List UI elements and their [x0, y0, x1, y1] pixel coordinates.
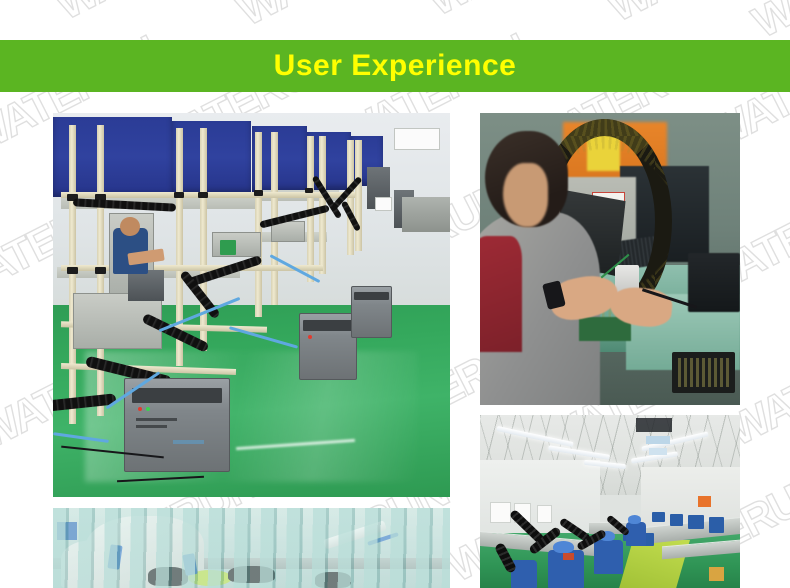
header-banner: User Experience [0, 40, 790, 92]
photo-workshop-row[interactable] [53, 113, 450, 497]
fume-extractor-unit [299, 313, 357, 380]
photo-production-line-scene [480, 415, 740, 588]
photo-workshop-row-scene [53, 113, 450, 497]
page-title: User Experience [274, 51, 517, 81]
photo-production-line[interactable] [480, 415, 740, 588]
photo-cleanroom-strips[interactable] [53, 508, 450, 588]
fume-extractor-unit [351, 286, 393, 338]
fume-extractor-unit [124, 378, 229, 472]
photo-solder-operator-scene [480, 113, 740, 405]
photo-solder-operator[interactable] [480, 113, 740, 405]
photo-cleanroom-strips-scene [53, 508, 450, 588]
